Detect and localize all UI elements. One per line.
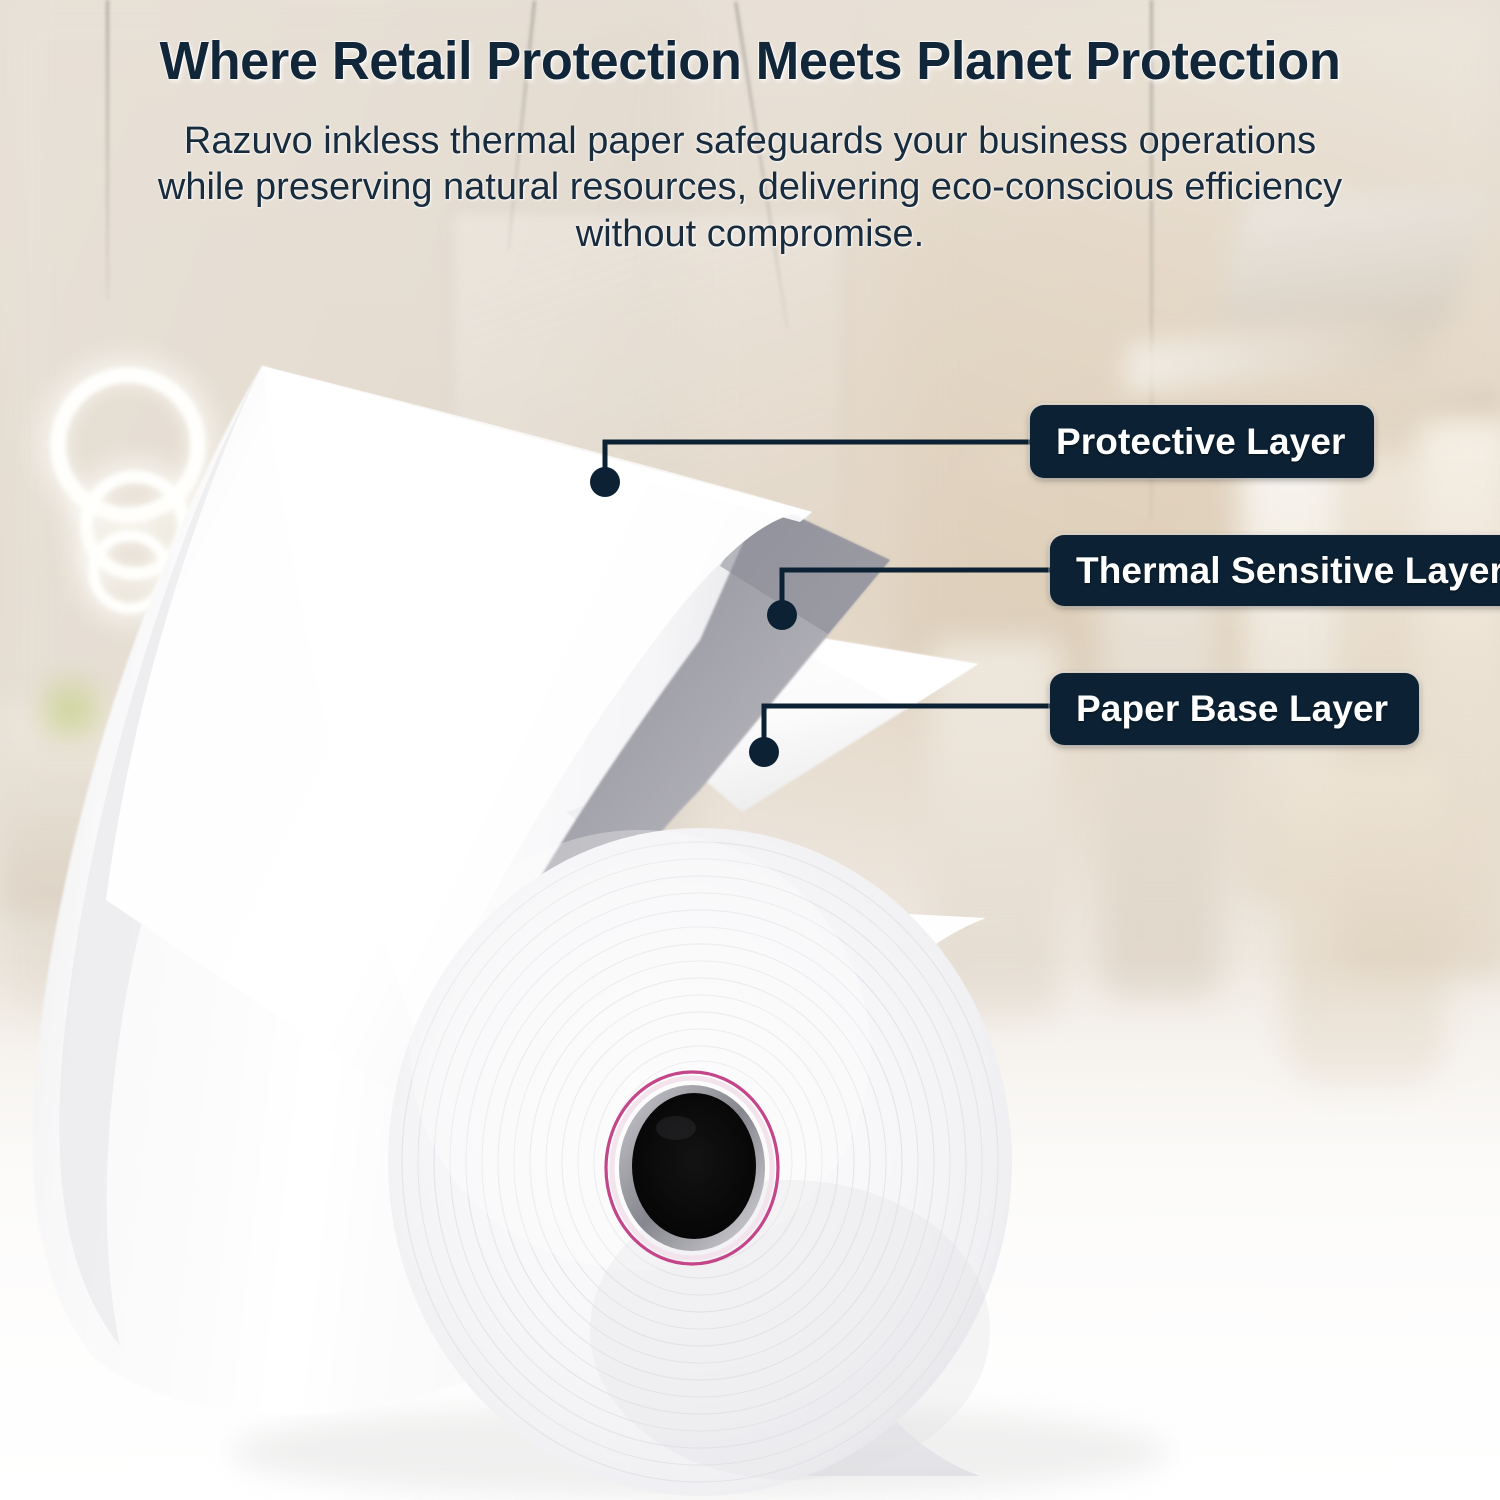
- leader-dot: [749, 737, 779, 767]
- leader-dot: [767, 600, 797, 630]
- callout-thermal-sensitive-layer[interactable]: Thermal Sensitive Layer: [1050, 535, 1500, 606]
- callout-label: Protective Layer: [1056, 421, 1346, 463]
- callout-paper-base-layer[interactable]: Paper Base Layer: [1050, 673, 1419, 745]
- callout-label: Paper Base Layer: [1076, 688, 1388, 730]
- callout-protective-layer[interactable]: Protective Layer: [1030, 405, 1374, 478]
- page-subtitle: Razuvo inkless thermal paper safeguards …: [150, 118, 1350, 257]
- callout-label: Thermal Sensitive Layer: [1076, 550, 1500, 592]
- leader-dot: [590, 467, 620, 497]
- infographic-canvas: Where Retail Protection Meets Planet Pro…: [0, 0, 1500, 1500]
- page-title: Where Retail Protection Meets Planet Pro…: [23, 30, 1478, 92]
